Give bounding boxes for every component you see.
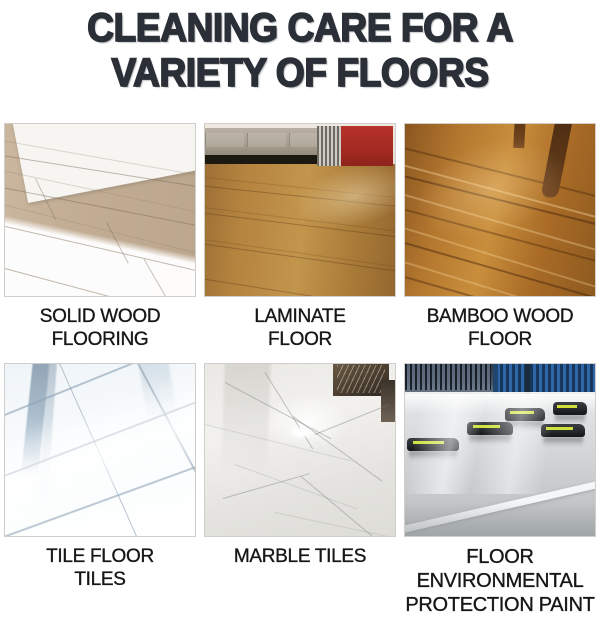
rack-post [493, 364, 498, 394]
grid-item-solid-wood-flooring[interactable]: SOLID WOOD FLOORING [0, 120, 200, 360]
title-line-1: CLEANING CARE FOR A [21, 6, 579, 51]
photo-tile-floor-tiles [5, 364, 195, 536]
wall-reflection [221, 364, 271, 471]
sofa-cushion [205, 133, 244, 147]
grid-item-laminate-floor[interactable]: LAMINATE FLOOR [200, 120, 400, 360]
photo-floor-environmental-protection-paint [405, 364, 595, 536]
caption-line: PROTECTION PAINT [400, 593, 600, 617]
caption-line: FLOOR [400, 328, 600, 351]
caption-floor-environmental-protection-paint: FLOOR ENVIRONMENTAL PROTECTION PAINT [400, 545, 600, 617]
title-line-2: VARIETY OF FLOORS [21, 51, 579, 96]
sofa-cushion [247, 133, 286, 147]
grid-item-floor-environmental-protection-paint[interactable]: FLOOR ENVIRONMENTAL PROTECTION PAINT [400, 360, 600, 600]
caption-line: TILES [0, 568, 200, 591]
floor-shading [405, 502, 595, 536]
photo-laminate-floor [205, 124, 395, 296]
marble-vein [315, 404, 390, 435]
floor-type-grid: SOLID WOOD FLOORING LAMINATE [0, 120, 600, 600]
caption-line: TILE FLOOR [0, 545, 200, 568]
floor-gloss [405, 394, 595, 494]
caption-line: SOLID WOOD [0, 305, 200, 328]
caption-bamboo-wood-floor: BAMBOO WOOD FLOOR [400, 305, 600, 351]
caption-line: FLOORING [0, 328, 200, 351]
floor-gloss [5, 364, 195, 536]
light-reflection [287, 426, 313, 439]
marble-vein [235, 464, 358, 509]
storage-rack [497, 364, 595, 392]
plank-line [205, 270, 395, 296]
caption-line: ENVIRONMENTAL [400, 569, 600, 593]
grid-item-bamboo-wood-floor[interactable]: BAMBOO WOOD FLOOR [400, 120, 600, 360]
caption-solid-wood-flooring: SOLID WOOD FLOORING [0, 305, 200, 351]
caption-tile-floor-tiles: TILE FLOOR TILES [0, 545, 200, 591]
caption-laminate-floor: LAMINATE FLOOR [200, 305, 400, 351]
caption-line: MARBLE TILES [200, 545, 400, 568]
floor-gloss [290, 154, 395, 238]
plank-seam [106, 222, 129, 263]
caption-line: FLOOR [200, 328, 400, 351]
caption-line: LAMINATE [200, 305, 400, 328]
caption-line: BAMBOO WOOD [400, 305, 600, 328]
furniture-texture [337, 365, 385, 393]
rack-post [525, 364, 530, 394]
photo-solid-wood-flooring [5, 124, 195, 296]
marble-vein [301, 476, 378, 536]
grid-item-tile-floor-tiles[interactable]: TILE FLOOR TILES [0, 360, 200, 600]
marble-vein [275, 512, 393, 536]
page-title: CLEANING CARE FOR A VARIETY OF FLOORS [0, 0, 600, 96]
sofa-shape [205, 128, 327, 158]
caption-marble-tiles: MARBLE TILES [200, 545, 400, 568]
wood-grain [205, 233, 395, 276]
photo-marble-tiles [205, 364, 395, 536]
cabinet-panel [317, 126, 343, 166]
dark-furniture [381, 380, 395, 422]
photo-bamboo-wood-floor [405, 124, 595, 296]
plank-seam [144, 259, 168, 296]
grid-item-marble-tiles[interactable]: MARBLE TILES [200, 360, 400, 600]
plank-line [5, 212, 195, 285]
storage-rack [405, 364, 491, 390]
caption-line: FLOOR [400, 545, 600, 569]
plank-line [5, 252, 195, 296]
sofa-shadow [205, 155, 335, 164]
